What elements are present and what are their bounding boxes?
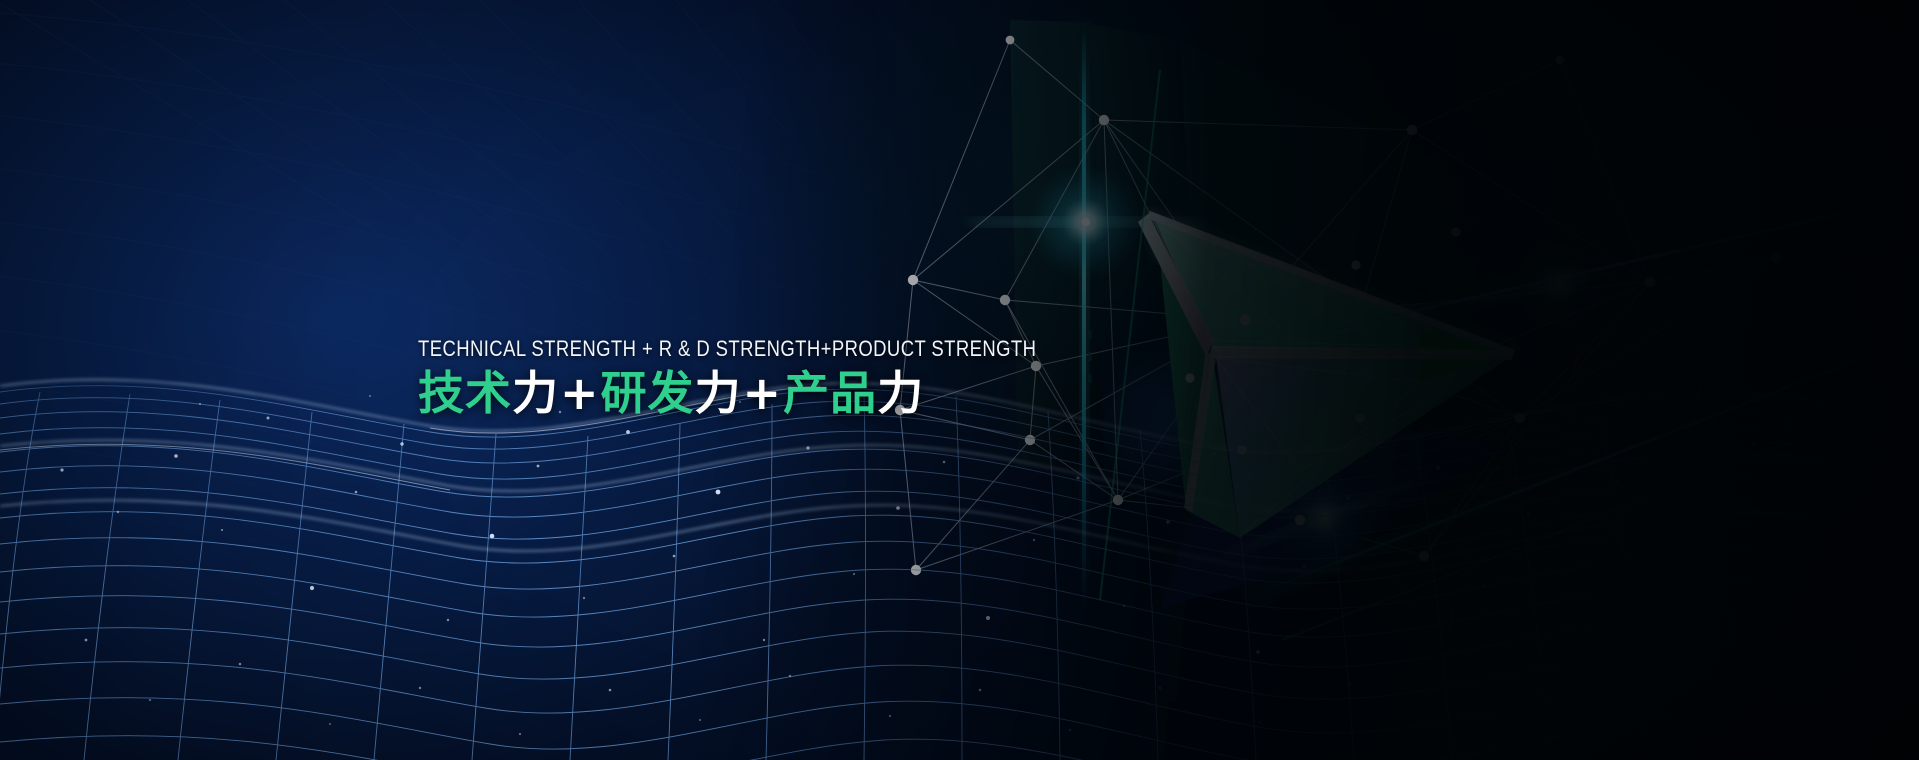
eyebrow-text: TECHNICAL STRENGTH + R & D STRENGTH+PROD…: [418, 336, 956, 362]
headline-segment-1: 力: [512, 366, 559, 420]
page-title: 技术力+研发力+产品力: [418, 368, 1058, 420]
headline-segment-7: 力: [877, 366, 924, 420]
hero-copy: TECHNICAL STRENGTH + R & D STRENGTH+PROD…: [418, 336, 1058, 420]
headline-segment-3: 研发: [601, 366, 695, 420]
headline-segment-4: 力: [695, 366, 742, 420]
headline-segment-0: 技术: [418, 366, 512, 420]
hero-banner: TECHNICAL STRENGTH + R & D STRENGTH+PROD…: [0, 0, 1919, 760]
headline-segment-5: +: [742, 366, 784, 420]
headline-segment-6: 产品: [783, 366, 877, 420]
headline-segment-2: +: [559, 366, 601, 420]
